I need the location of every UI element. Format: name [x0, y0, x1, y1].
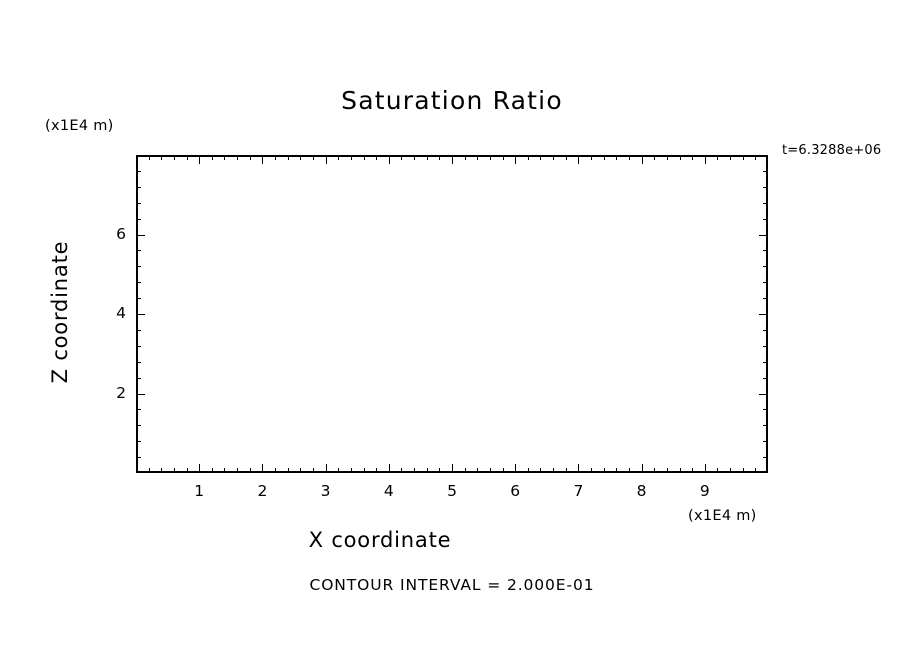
- x-axis-tick-label: 8: [627, 482, 657, 500]
- x-axis-minor-tick-top: [161, 155, 162, 160]
- y-axis-major-tick: [136, 394, 145, 395]
- x-axis-minor-tick-top: [174, 155, 175, 160]
- y-axis-major-tick-right: [759, 394, 768, 395]
- x-axis-major-tick-top: [199, 155, 200, 164]
- x-axis-minor-tick: [604, 468, 605, 473]
- y-axis-tick-label: 6: [100, 225, 126, 243]
- x-axis-minor-tick: [401, 468, 402, 473]
- y-axis-minor-tick: [136, 203, 141, 204]
- y-axis-minor-tick-right: [763, 266, 768, 267]
- x-axis-tick-label: 3: [311, 482, 341, 500]
- x-axis-minor-tick: [503, 468, 504, 473]
- x-axis-minor-tick: [338, 468, 339, 473]
- x-axis-minor-tick: [275, 468, 276, 473]
- x-axis-minor-tick-top: [149, 155, 150, 160]
- y-axis-major-tick-right: [759, 235, 768, 236]
- y-axis-minor-tick: [136, 171, 141, 172]
- x-axis-minor-tick: [288, 468, 289, 473]
- x-axis-major-tick: [262, 464, 263, 473]
- colorbar: [782, 200, 808, 520]
- x-axis-minor-tick: [439, 468, 440, 473]
- y-axis-minor-tick-right: [763, 250, 768, 251]
- x-axis-major-tick: [326, 464, 327, 473]
- y-axis-minor-tick: [136, 409, 141, 410]
- x-axis-minor-tick: [364, 468, 365, 473]
- x-axis-minor-tick-top: [427, 155, 428, 160]
- x-axis-minor-tick-top: [717, 155, 718, 160]
- x-axis-minor-tick-top: [275, 155, 276, 160]
- x-axis-tick-label: 2: [247, 482, 277, 500]
- x-axis-tick-label: 1: [184, 482, 214, 500]
- y-axis-title: Z coordinate: [48, 222, 72, 402]
- y-axis-minor-tick-right: [763, 330, 768, 331]
- y-axis-minor-tick-right: [763, 441, 768, 442]
- y-axis-minor-tick: [136, 362, 141, 363]
- x-axis-major-tick: [452, 464, 453, 473]
- x-axis-major-tick-top: [515, 155, 516, 164]
- timestamp-annotation: t=6.3288e+06: [782, 143, 881, 158]
- x-axis-major-tick-top: [326, 155, 327, 164]
- x-axis-minor-tick: [755, 468, 756, 473]
- x-axis-minor-tick: [490, 468, 491, 473]
- x-axis-minor-tick-top: [300, 155, 301, 160]
- x-axis-minor-tick-top: [591, 155, 592, 160]
- x-axis-minor-tick-top: [540, 155, 541, 160]
- x-axis-minor-tick-top: [414, 155, 415, 160]
- x-axis-major-tick-top: [642, 155, 643, 164]
- x-axis-minor-tick: [591, 468, 592, 473]
- y-axis-tick-label: 4: [100, 304, 126, 322]
- x-axis-minor-tick-top: [376, 155, 377, 160]
- y-axis-minor-tick: [136, 282, 141, 283]
- contour-plot-area: [136, 155, 768, 473]
- y-axis-minor-tick: [136, 250, 141, 251]
- x-axis-minor-tick-top: [566, 155, 567, 160]
- y-axis-minor-tick-right: [763, 362, 768, 363]
- y-axis-unit-label: (x1E4 m): [45, 118, 114, 134]
- x-axis-minor-tick: [465, 468, 466, 473]
- x-axis-major-tick: [578, 464, 579, 473]
- y-axis-minor-tick: [136, 330, 141, 331]
- x-axis-minor-tick: [692, 468, 693, 473]
- x-axis-minor-tick: [717, 468, 718, 473]
- x-axis-minor-tick: [566, 468, 567, 473]
- contour-interval-caption: CONTOUR INTERVAL = 2.000E-01: [0, 576, 904, 594]
- x-axis-tick-label: 7: [563, 482, 593, 500]
- y-axis-minor-tick-right: [763, 187, 768, 188]
- x-axis-minor-tick-top: [503, 155, 504, 160]
- y-axis-major-tick-right: [759, 314, 768, 315]
- x-axis-minor-tick-top: [616, 155, 617, 160]
- y-axis-major-tick: [136, 314, 145, 315]
- x-axis-major-tick: [515, 464, 516, 473]
- x-axis-minor-tick: [300, 468, 301, 473]
- x-axis-minor-tick-top: [528, 155, 529, 160]
- x-axis-minor-tick: [616, 468, 617, 473]
- x-axis-tick-label: 6: [500, 482, 530, 500]
- x-axis-minor-tick-top: [743, 155, 744, 160]
- x-axis-minor-tick-top: [364, 155, 365, 160]
- y-axis-minor-tick-right: [763, 346, 768, 347]
- x-axis-minor-tick-top: [680, 155, 681, 160]
- x-axis-major-tick: [389, 464, 390, 473]
- x-axis-minor-tick-top: [237, 155, 238, 160]
- x-axis-minor-tick-top: [730, 155, 731, 160]
- x-axis-minor-tick-top: [338, 155, 339, 160]
- y-axis-minor-tick-right: [763, 203, 768, 204]
- x-axis-minor-tick-top: [465, 155, 466, 160]
- y-axis-minor-tick: [136, 425, 141, 426]
- x-axis-minor-tick-top: [755, 155, 756, 160]
- x-axis-minor-tick: [224, 468, 225, 473]
- x-axis-tick-label: 4: [374, 482, 404, 500]
- y-axis-minor-tick-right: [763, 425, 768, 426]
- x-axis-tick-label: 9: [690, 482, 720, 500]
- x-axis-minor-tick-top: [288, 155, 289, 160]
- x-axis-minor-tick: [174, 468, 175, 473]
- x-axis-major-tick-top: [705, 155, 706, 164]
- x-axis-major-tick-top: [452, 155, 453, 164]
- x-axis-major-tick: [705, 464, 706, 473]
- colorbar-canvas: [782, 200, 808, 520]
- y-axis-minor-tick: [136, 378, 141, 379]
- y-axis-minor-tick: [136, 219, 141, 220]
- x-axis-minor-tick: [351, 468, 352, 473]
- x-axis-major-tick-top: [578, 155, 579, 164]
- x-axis-unit-label: (x1E4 m): [688, 508, 757, 524]
- x-axis-minor-tick-top: [629, 155, 630, 160]
- x-axis-minor-tick-top: [313, 155, 314, 160]
- x-axis-minor-tick: [528, 468, 529, 473]
- x-axis-minor-tick: [477, 468, 478, 473]
- y-axis-minor-tick: [136, 298, 141, 299]
- y-axis-minor-tick-right: [763, 219, 768, 220]
- y-axis-minor-tick-right: [763, 457, 768, 458]
- x-axis-minor-tick-top: [401, 155, 402, 160]
- x-axis-minor-tick: [667, 468, 668, 473]
- y-axis-minor-tick-right: [763, 298, 768, 299]
- x-axis-minor-tick: [654, 468, 655, 473]
- chart-title: Saturation Ratio: [0, 86, 904, 115]
- x-axis-minor-tick-top: [692, 155, 693, 160]
- x-axis-minor-tick: [680, 468, 681, 473]
- x-axis-minor-tick: [161, 468, 162, 473]
- x-axis-minor-tick: [427, 468, 428, 473]
- y-axis-minor-tick: [136, 187, 141, 188]
- y-axis-minor-tick: [136, 346, 141, 347]
- x-axis-major-tick: [199, 464, 200, 473]
- y-axis-minor-tick: [136, 441, 141, 442]
- x-axis-minor-tick: [149, 468, 150, 473]
- x-axis-minor-tick: [629, 468, 630, 473]
- x-axis-minor-tick-top: [667, 155, 668, 160]
- x-axis-title: X coordinate: [0, 528, 760, 552]
- x-axis-major-tick-top: [262, 155, 263, 164]
- x-axis-minor-tick-top: [224, 155, 225, 160]
- y-axis-minor-tick: [136, 266, 141, 267]
- x-axis-minor-tick: [237, 468, 238, 473]
- x-axis-minor-tick: [414, 468, 415, 473]
- x-axis-minor-tick: [250, 468, 251, 473]
- x-axis-minor-tick: [553, 468, 554, 473]
- y-axis-minor-tick-right: [763, 409, 768, 410]
- x-axis-minor-tick: [313, 468, 314, 473]
- x-axis-minor-tick-top: [604, 155, 605, 160]
- x-axis-minor-tick-top: [654, 155, 655, 160]
- x-axis-minor-tick: [743, 468, 744, 473]
- saturation-field-canvas: [136, 155, 768, 473]
- y-axis-major-tick: [136, 235, 145, 236]
- x-axis-major-tick: [642, 464, 643, 473]
- y-axis-minor-tick: [136, 457, 141, 458]
- x-axis-minor-tick: [376, 468, 377, 473]
- x-axis-minor-tick: [730, 468, 731, 473]
- x-axis-minor-tick-top: [351, 155, 352, 160]
- x-axis-minor-tick: [212, 468, 213, 473]
- y-axis-minor-tick-right: [763, 171, 768, 172]
- x-axis-minor-tick-top: [187, 155, 188, 160]
- y-axis-minor-tick-right: [763, 378, 768, 379]
- x-axis-tick-label: 5: [437, 482, 467, 500]
- x-axis-minor-tick-top: [477, 155, 478, 160]
- x-axis-minor-tick-top: [212, 155, 213, 160]
- y-axis-tick-label: 2: [100, 384, 126, 402]
- x-axis-minor-tick-top: [553, 155, 554, 160]
- y-axis-minor-tick-right: [763, 282, 768, 283]
- x-axis-minor-tick-top: [250, 155, 251, 160]
- x-axis-minor-tick: [187, 468, 188, 473]
- x-axis-major-tick-top: [389, 155, 390, 164]
- x-axis-minor-tick-top: [490, 155, 491, 160]
- x-axis-minor-tick: [540, 468, 541, 473]
- x-axis-minor-tick-top: [439, 155, 440, 160]
